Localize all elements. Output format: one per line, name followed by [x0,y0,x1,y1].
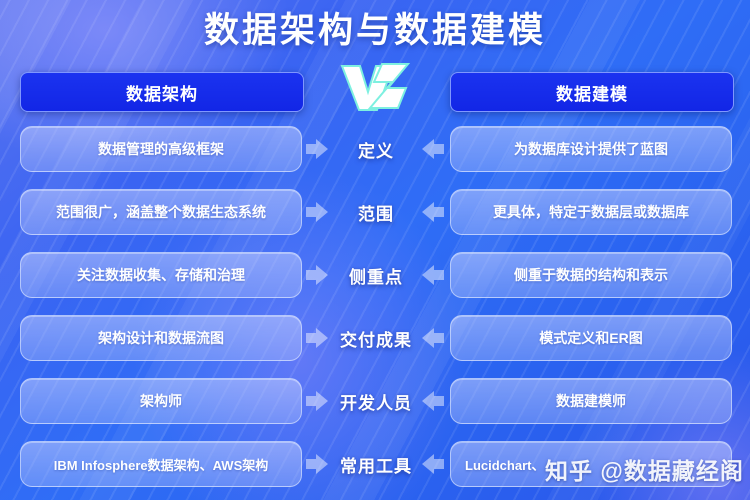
comparison-row: 数据管理的高级框架 定义 为数据库设计提供了蓝图 [0,126,750,172]
row-category-label: 范围 [302,189,450,235]
row-category-label: 开发人员 [302,378,450,424]
row-right-cell: 更具体，特定于数据层或数据库 [450,189,732,235]
row-category-label: 侧重点 [302,252,450,298]
row-right-cell: 数据建模师 [450,378,732,424]
header-pill-right: 数据建模 [450,72,734,112]
comparison-row: 架构师 开发人员 数据建模师 [0,378,750,424]
row-left-cell: 数据管理的高级框架 [20,126,302,172]
row-left-cell: IBM Infosphere数据架构、AWS架构 [20,441,302,487]
row-left-cell: 关注数据收集、存储和治理 [20,252,302,298]
comparison-row: 范围很广，涵盖整个数据生态系统 范围 更具体，特定于数据层或数据库 [0,189,750,235]
page-title: 数据架构与数据建模 [0,6,750,56]
vs-logo-icon [336,56,414,114]
row-right-cell: 为数据库设计提供了蓝图 [450,126,732,172]
header-pill-left: 数据架构 [20,72,304,112]
row-right-cell: 模式定义和ER图 [450,315,732,361]
row-category-label: 常用工具 [302,441,450,487]
row-category-label: 交付成果 [302,315,450,361]
comparison-row: 架构设计和数据流图 交付成果 模式定义和ER图 [0,315,750,361]
row-right-cell: 侧重于数据的结构和表示 [450,252,732,298]
row-left-cell: 架构设计和数据流图 [20,315,302,361]
watermark: 知乎 @数据藏经阁 [545,452,744,486]
comparison-row: 关注数据收集、存储和治理 侧重点 侧重于数据的结构和表示 [0,252,750,298]
vs-badge [336,56,414,114]
row-left-cell: 范围很广，涵盖整个数据生态系统 [20,189,302,235]
row-left-cell: 架构师 [20,378,302,424]
row-category-label: 定义 [302,126,450,172]
infographic-canvas: 数据架构与数据建模 数据架构 数据建模 数据管理的高级框架 定义 为数据库设计提… [0,0,750,500]
